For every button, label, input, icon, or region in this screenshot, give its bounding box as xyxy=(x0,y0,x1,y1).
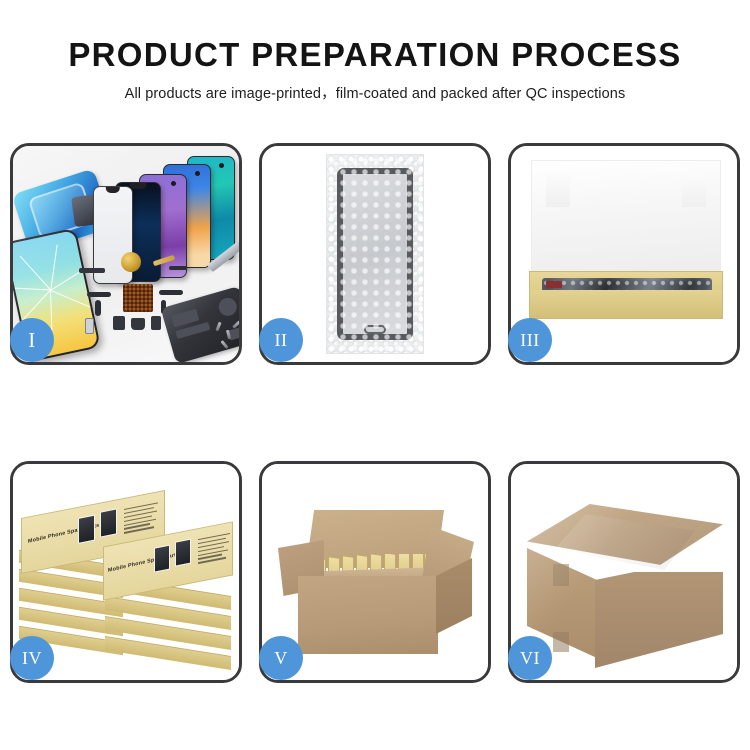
screws-group-icon xyxy=(215,318,239,352)
process-step-card-4[interactable]: Mobile Phone Spare Parts Mobile Phone Sp… xyxy=(10,461,242,683)
box-lid-icon xyxy=(531,160,721,282)
process-step-card-5[interactable]: V xyxy=(259,461,491,683)
spare-parts-group xyxy=(79,244,239,356)
taptic-icon xyxy=(151,316,161,330)
carton-front-face xyxy=(298,576,438,654)
speaker-box-icon xyxy=(131,318,145,330)
step-badge-2: II xyxy=(259,318,303,362)
part-strip-icon xyxy=(79,268,105,273)
wrapped-screen-icon xyxy=(337,168,413,340)
home-button-icon xyxy=(364,325,386,334)
antenna-cable-icon xyxy=(87,292,111,297)
flex-connector-icon xyxy=(153,255,175,267)
kraft-box-stack: Mobile Phone Spare Parts Mobile Phone Sp… xyxy=(19,482,233,664)
step-badge-6: VI xyxy=(508,636,552,680)
carton-tape-lower xyxy=(553,632,569,652)
carton-tape-upper xyxy=(553,564,569,586)
process-step-card-3[interactable]: III xyxy=(508,143,740,365)
vibration-motor-icon xyxy=(121,252,141,272)
speaker-mesh-icon xyxy=(123,284,153,312)
carton-right-face xyxy=(595,572,723,668)
sim-tray-icon xyxy=(85,318,94,334)
box-sticker-icon xyxy=(546,281,562,288)
open-carton-icon xyxy=(276,492,474,664)
camera-module-icon xyxy=(113,316,125,330)
sealed-carton-icon xyxy=(527,490,723,668)
process-step-card-6[interactable]: VI xyxy=(508,461,740,683)
process-step-card-1[interactable]: I xyxy=(10,143,242,365)
product-preparation-infographic: PRODUCT PREPARATION PROCESS All products… xyxy=(0,0,750,750)
flex-cable-icon xyxy=(169,266,187,270)
step-badge-5: V xyxy=(259,636,303,680)
process-step-card-2[interactable]: II xyxy=(259,143,491,365)
step-badge-4: IV xyxy=(10,636,54,680)
page-title: PRODUCT PREPARATION PROCESS xyxy=(0,38,750,73)
camera-flex-icon xyxy=(159,290,183,295)
process-step-grid: I II xyxy=(10,143,740,683)
step-badge-1: I xyxy=(10,318,54,362)
bubble-wrap-sheet xyxy=(326,154,424,354)
bracket-icon xyxy=(95,300,101,316)
page-subtitle: All products are image-printed，film-coat… xyxy=(0,82,750,103)
header: PRODUCT PREPARATION PROCESS All products… xyxy=(0,0,750,103)
step-badge-3: III xyxy=(508,318,552,362)
kraft-box-base-icon xyxy=(529,271,723,319)
